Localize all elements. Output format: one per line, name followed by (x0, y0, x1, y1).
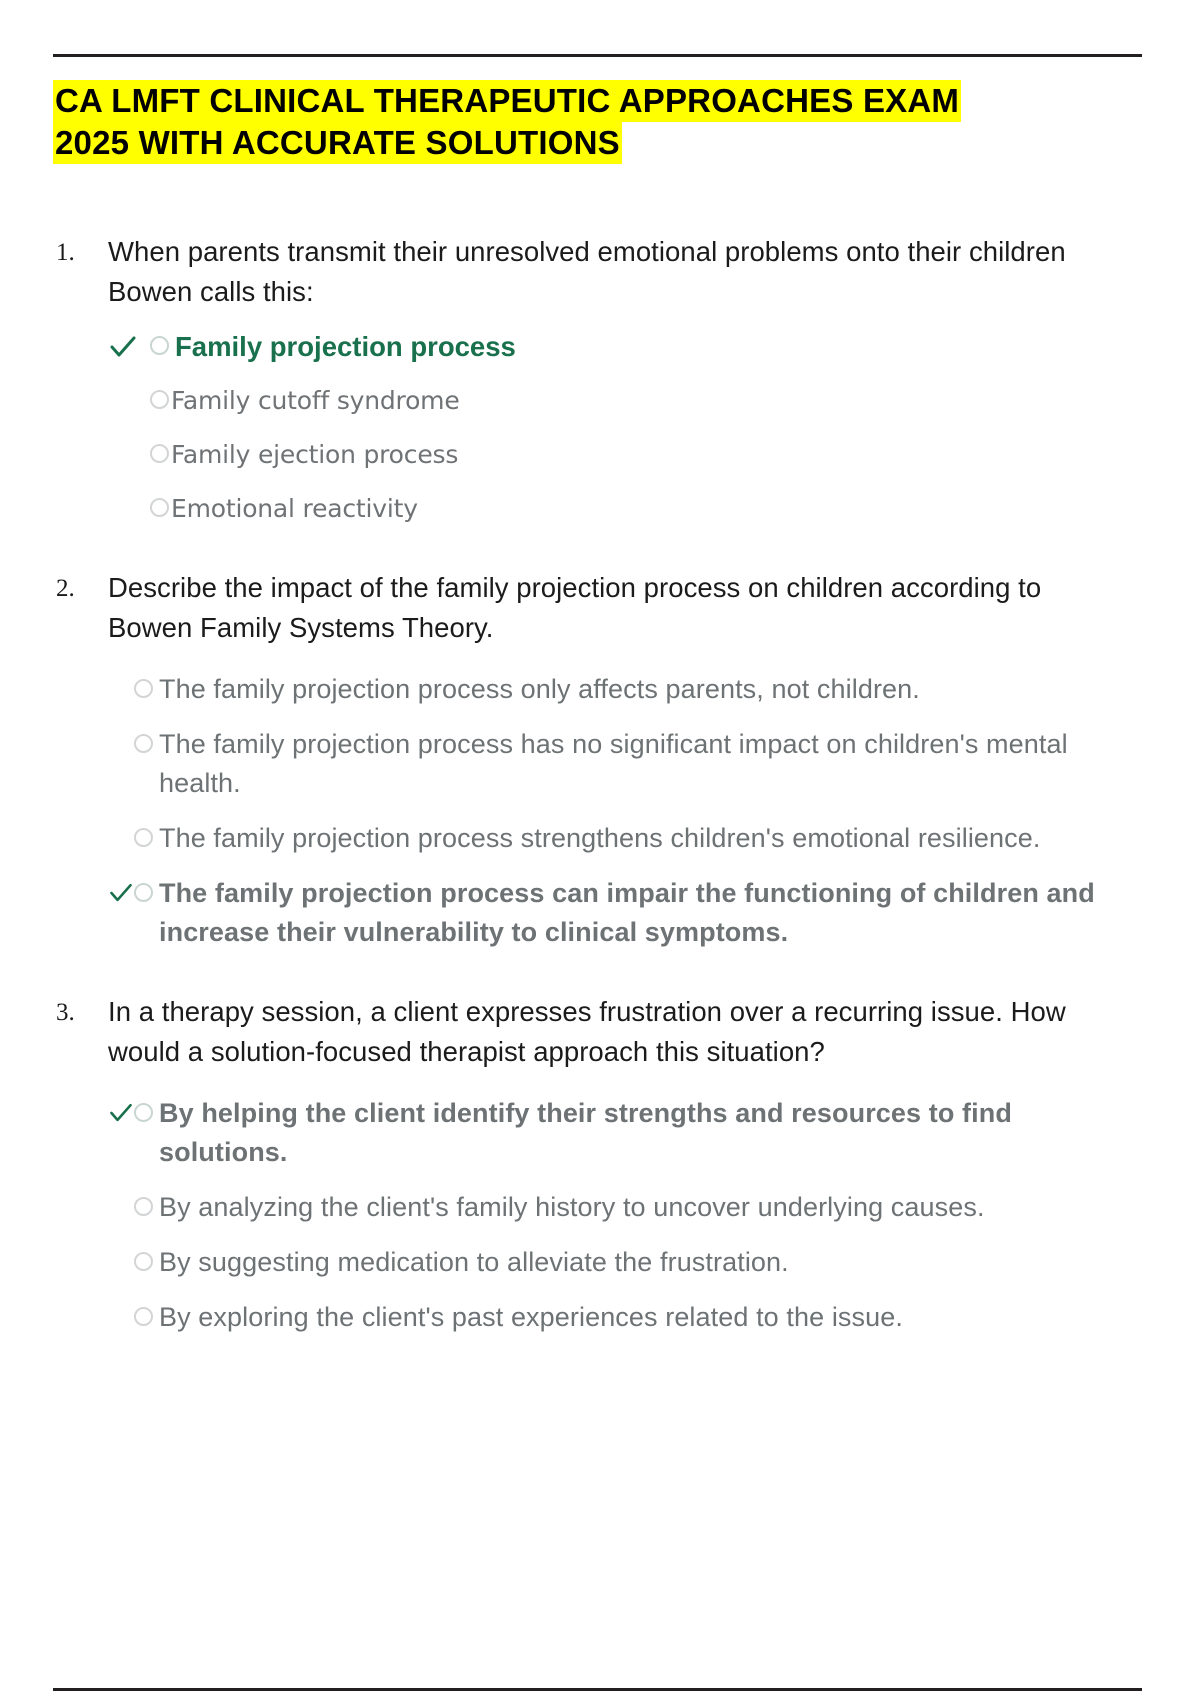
option-label: The family projection process has no sig… (153, 725, 1123, 803)
option-label: Emotional reactivity (169, 490, 1123, 528)
radio-button-icon[interactable] (134, 828, 153, 847)
option-label: By helping the client identify their str… (153, 1094, 1123, 1172)
option-item[interactable]: By exploring the client's past experienc… (108, 1298, 1123, 1337)
questions-list: 1. When parents transmit their unresolve… (53, 232, 1123, 1337)
option-item[interactable]: By analyzing the client's family history… (108, 1188, 1123, 1227)
question-item-2: 2. Describe the impact of the family pro… (53, 568, 1123, 952)
top-horizontal-rule (53, 54, 1142, 57)
option-item[interactable]: Emotional reactivity (108, 490, 1123, 528)
question-item-1: 1. When parents transmit their unresolve… (53, 232, 1123, 528)
option-label: By analyzing the client's family history… (153, 1188, 1123, 1227)
radio-button-icon[interactable] (150, 444, 169, 463)
check-slot (108, 1094, 134, 1128)
title-highlight-1: CA LMFT CLINICAL THERAPEUTIC APPROACHES … (53, 80, 961, 122)
question-text-1: When parents transmit their unresolved e… (108, 232, 1123, 312)
option-item[interactable]: The family projection process only affec… (108, 670, 1123, 709)
question-number-1: 1. (53, 232, 108, 273)
title-line-1: CA LMFT CLINICAL THERAPEUTIC APPROACHES … (53, 80, 1113, 122)
option-item[interactable]: By suggesting medication to alleviate th… (108, 1243, 1123, 1282)
radio-button-icon[interactable] (134, 679, 153, 698)
radio-button-icon[interactable] (134, 883, 153, 902)
title-highlight-2: 2025 WITH ACCURATE SOLUTIONS (53, 122, 622, 164)
question-number-2: 2. (53, 568, 108, 609)
radio-button-icon[interactable] (150, 498, 169, 517)
option-label: By suggesting medication to alleviate th… (153, 1243, 1123, 1282)
radio-button-icon[interactable] (134, 1197, 153, 1216)
title-line-2: 2025 WITH ACCURATE SOLUTIONS (53, 122, 1113, 164)
bottom-horizontal-rule (53, 1688, 1142, 1691)
radio-button-icon[interactable] (134, 1307, 153, 1326)
option-item[interactable]: The family projection process can impair… (108, 874, 1123, 952)
option-label: Family ejection process (169, 436, 1123, 474)
options-list-1: Family projection process Family cutoff … (108, 328, 1123, 528)
checkmark-icon (108, 878, 134, 908)
radio-button-icon[interactable] (134, 1252, 153, 1271)
option-item[interactable]: Family cutoff syndrome (108, 382, 1123, 420)
option-item[interactable]: The family projection process has no sig… (108, 725, 1123, 803)
radio-button-icon[interactable] (134, 734, 153, 753)
options-list-2: The family projection process only affec… (108, 670, 1123, 952)
option-label: Family projection process (169, 328, 1123, 366)
option-label: The family projection process can impair… (153, 874, 1123, 952)
check-slot (108, 328, 150, 362)
checkmark-icon (108, 332, 138, 362)
options-list-3: By helping the client identify their str… (108, 1094, 1123, 1337)
question-text-2: Describe the impact of the family projec… (108, 568, 1123, 648)
document-title: CA LMFT CLINICAL THERAPEUTIC APPROACHES … (53, 80, 1113, 164)
radio-button-icon[interactable] (150, 390, 169, 409)
option-item[interactable]: Family projection process (108, 328, 1123, 366)
option-item[interactable]: Family ejection process (108, 436, 1123, 474)
document-page: CA LMFT CLINICAL THERAPEUTIC APPROACHES … (0, 0, 1200, 1700)
option-label: The family projection process strengthen… (153, 819, 1123, 858)
radio-button-icon[interactable] (150, 336, 169, 355)
option-label: Family cutoff syndrome (169, 382, 1123, 420)
option-label: By exploring the client's past experienc… (153, 1298, 1123, 1337)
option-label: The family projection process only affec… (153, 670, 1123, 709)
question-number-3: 3. (53, 992, 108, 1033)
checkmark-icon (108, 1098, 134, 1128)
question-text-3: In a therapy session, a client expresses… (108, 992, 1123, 1072)
check-slot (108, 874, 134, 908)
option-item[interactable]: The family projection process strengthen… (108, 819, 1123, 858)
radio-button-icon[interactable] (134, 1103, 153, 1122)
option-item[interactable]: By helping the client identify their str… (108, 1094, 1123, 1172)
question-item-3: 3. In a therapy session, a client expres… (53, 992, 1123, 1337)
